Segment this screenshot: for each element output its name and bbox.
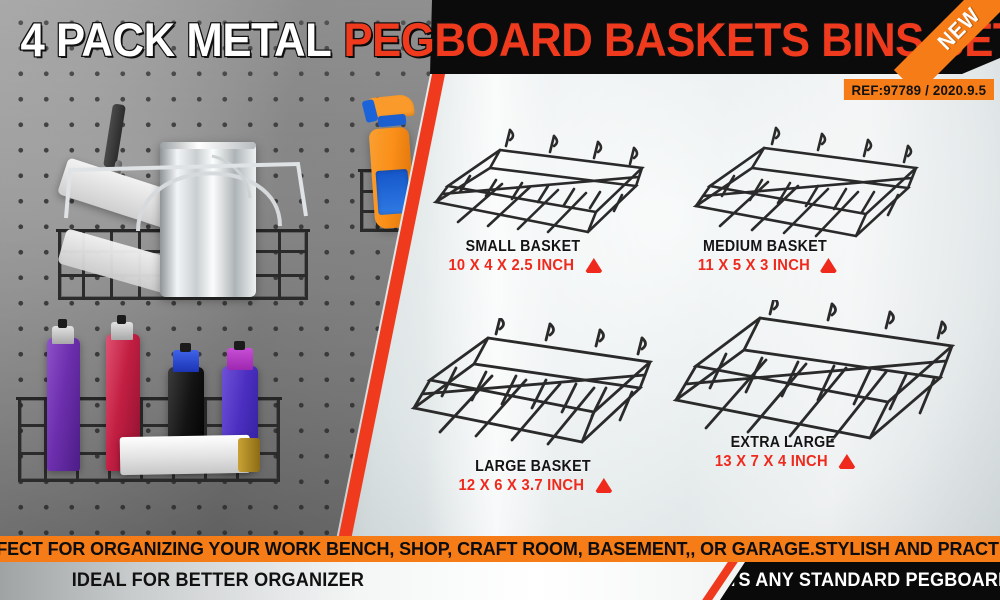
medium-basket-name: MEDIUM BASKET (668, 238, 861, 256)
small-basket-name: SMALL BASKET (426, 238, 619, 256)
extra-large-basket-dims: 13 X 7 X 4 INCH (715, 453, 828, 471)
triangle-marker-icon (819, 257, 837, 274)
label-extra-large-basket: EXTRA LARGE 13 X 7 X 4 INCH (678, 434, 888, 471)
spray-can-black-nozzle (180, 343, 191, 352)
reference-badge-label: REF:97789 / 2020.9.5 (852, 82, 987, 98)
footer-right-claim: FITS ANY STANDARD PEGBOARD (722, 562, 1000, 600)
spray-can-red-nozzle (117, 315, 126, 324)
triangle-marker-icon (838, 453, 856, 470)
spray-can-purple-cap (52, 326, 74, 344)
large-basket-name: LARGE BASKET (436, 458, 629, 476)
spray-can-purple (47, 338, 80, 471)
tagline-banner: PERFECT FOR ORGANIZING YOUR WORK BENCH, … (0, 536, 1000, 562)
extra-large-basket-name: EXTRA LARGE (686, 434, 879, 452)
product-figure-medium-basket (690, 126, 935, 254)
title-highlight: PEGBOARD BASKETS BINS SET (343, 12, 1000, 67)
page-title: 4 PACK METAL PEGBOARD BASKETS BINS SET (0, 8, 874, 70)
footer-left-claim-text: IDEAL FOR BETTER ORGANIZER (71, 570, 363, 592)
triangle-marker-icon (585, 257, 603, 274)
product-advertisement: SMALL BASKET 10 X 4 X 2.5 INCH MEDIUM BA… (0, 0, 1000, 600)
product-figure-small-basket (430, 128, 660, 253)
footer-claims: IDEAL FOR BETTER ORGANIZER FITS ANY STAN… (0, 562, 1000, 600)
reference-badge: REF:97789 / 2020.9.5 (844, 79, 994, 100)
white-tube-product (120, 435, 251, 475)
label-small-basket: SMALL BASKET 10 X 4 X 2.5 INCH (418, 238, 628, 275)
spray-can-black-cap (173, 350, 199, 372)
spray-can-purple-nozzle (58, 319, 67, 328)
label-medium-basket: MEDIUM BASKET 11 X 5 X 3 INCH (660, 238, 870, 275)
footer-left-claim: IDEAL FOR BETTER ORGANIZER (0, 562, 745, 600)
footer-right-claim-text: FITS ANY STANDARD PEGBOARD (711, 570, 1000, 592)
product-figure-large-basket (408, 318, 668, 468)
spray-can-violet-nozzle (234, 341, 245, 350)
triangle-marker-icon (595, 477, 613, 494)
tube-cap (238, 438, 260, 472)
tagline-text: PERFECT FOR ORGANIZING YOUR WORK BENCH, … (0, 538, 1000, 560)
medium-basket-dims: 11 X 5 X 3 INCH (697, 257, 809, 275)
spray-can-red-cap (111, 322, 133, 340)
title-primary: 4 PACK METAL (20, 12, 331, 67)
label-large-basket: LARGE BASKET 12 X 6 X 3.7 INCH (428, 458, 638, 495)
spray-can-violet-cap (227, 348, 253, 370)
small-basket-dims: 10 X 4 X 2.5 INCH (449, 257, 575, 275)
basket-top-wire (62, 160, 312, 230)
large-basket-dims: 12 X 6 X 3.7 INCH (459, 477, 585, 495)
